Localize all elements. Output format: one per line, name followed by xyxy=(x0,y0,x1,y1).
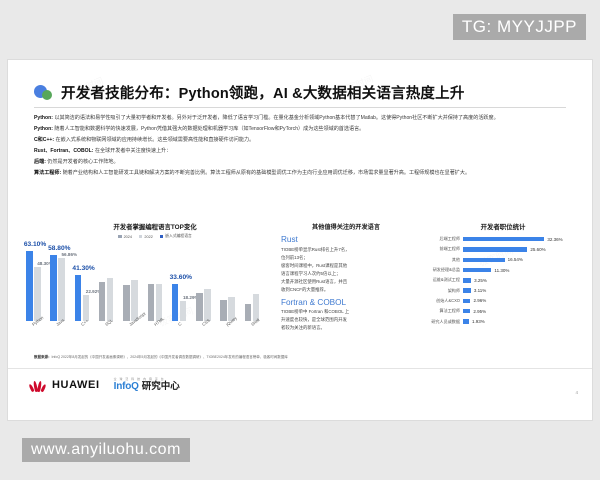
bar-category-label: 后端工程师 xyxy=(414,236,463,242)
bar-row: 研发经理&总监11.30% xyxy=(414,265,592,275)
fortran-line: 升速度也较快，是全球范围内开发 xyxy=(281,317,347,322)
legend-swatch-icon xyxy=(160,235,163,238)
infoq-main: InfoQ 研究中心 xyxy=(114,382,180,392)
legend-item: 2024 xyxy=(118,234,132,239)
bar-row: 研究人员或数据1.93% xyxy=(414,316,592,326)
chart-plot-area: 后端工程师32.36%前端工程师25.60%其他16.54%研发经理&总监11.… xyxy=(414,234,592,327)
bar xyxy=(463,268,491,272)
paragraph-label: Python: xyxy=(34,126,53,132)
footer-logos: HUAWEI 全 球 泛 科 技 内 容 平 台 InfoQ 研究中心 xyxy=(30,378,180,392)
bar-group xyxy=(245,243,266,321)
bar-value-label: 25.60% xyxy=(527,247,545,252)
bar-row: 运维&测试工程3.25% xyxy=(414,275,592,285)
panel-heading: 其他值得关注的开发语言 xyxy=(281,222,411,231)
bar-value-label: 3.25% xyxy=(471,278,487,283)
fortran-cobol-heading: Fortran & COBOL xyxy=(281,298,411,307)
bar-value-label: 32.36% xyxy=(544,237,562,242)
rust-heading: Rust xyxy=(281,235,411,244)
bar-value-label: 1.93% xyxy=(469,319,485,324)
bar-2022 xyxy=(107,278,114,321)
bar-category-label: 研究人员或数据 xyxy=(414,319,463,325)
bar-2024 xyxy=(196,293,203,321)
rust-line: TIOBE榜单显示Rust排名上升7名， xyxy=(281,247,350,252)
bar-group xyxy=(99,243,120,321)
infoq-wordmark: InfoQ xyxy=(114,382,139,392)
bar xyxy=(463,247,527,251)
paragraph-label: Rust、Fortran、COBOL: xyxy=(34,148,93,154)
legend-item: 嵌入式编程语言 xyxy=(160,234,192,239)
bar-2022 xyxy=(58,258,65,321)
legend-label: 2024 xyxy=(124,235,132,239)
bar-value-label: 2.96% xyxy=(470,298,486,303)
legend-swatch-icon xyxy=(118,235,121,238)
page-title: 开发者技能分布：Python领跑，AI &大数据相关语言热度上升 xyxy=(61,82,465,103)
bar xyxy=(463,299,470,303)
slide-title-row: 开发者技能分布：Python领跑，AI &大数据相关语言热度上升 xyxy=(34,82,572,103)
bar-category-label: 运维&测试工程 xyxy=(414,277,463,283)
rust-line: 语言课程学习人次约5倍以上； xyxy=(281,271,341,276)
languages-bar-chart: 开发者掌握编程语言TOP变化 2024 2022 嵌入式编程语言 63.10%4… xyxy=(26,222,284,348)
x-axis-label: C xyxy=(177,321,182,327)
bar-2024 xyxy=(148,284,155,321)
bar-category-label: 算法工程师 xyxy=(414,308,463,314)
huawei-flower-icon xyxy=(30,379,47,392)
rust-body: TIOBE榜单显示Rust排名上升7名， 位列前13名； 极客时间课程中，Rus… xyxy=(281,246,411,294)
source-label: 数据来源： xyxy=(34,355,52,359)
other-languages-panel: 其他值得关注的开发语言 Rust TIOBE榜单显示Rust排名上升7名， 位列… xyxy=(281,222,411,348)
bar-2024 xyxy=(75,275,82,321)
bar-group xyxy=(220,243,241,321)
bar xyxy=(463,258,505,262)
paragraph-label: 算法工程师: xyxy=(34,170,61,176)
chart-legend: 2024 2022 嵌入式编程语言 xyxy=(26,234,284,239)
paragraph-label: 后端: xyxy=(34,159,46,165)
infoq-logo: 全 球 泛 科 技 内 容 平 台 InfoQ 研究中心 xyxy=(114,378,180,392)
charts-row: 开发者掌握编程语言TOP变化 2024 2022 嵌入式编程语言 63.10%4… xyxy=(26,222,592,348)
paragraph: C和C++: 在嵌入式系统和物联网领域的应用持续增长。这些领域需要高性能和直接硬… xyxy=(34,136,568,146)
bar-value-label: 16.54% xyxy=(505,257,523,262)
bar-2024 xyxy=(123,285,130,321)
bar-2024 xyxy=(172,284,179,321)
chart-title: 开发者职位统计 xyxy=(414,222,592,231)
paragraph: Python: 随着人工智能和数据科学的快速发展，Python凭借其强大的数据处… xyxy=(34,125,568,135)
bar-value-label: 2.95% xyxy=(470,309,486,314)
bar xyxy=(463,288,471,292)
bar-value-label: 41.30% xyxy=(67,265,101,272)
page-number: 4 xyxy=(575,390,578,395)
source-note: 数据来源：InfoQ 2022年8月发起的《中国开发者画像调研》、2024年5月… xyxy=(34,355,574,360)
bar-row: 算法工程师2.95% xyxy=(414,306,592,316)
paragraph-text: 随着产业结构和人工智能研发工具链和解决方案的不断完善比例。算法工程师从原有的基础… xyxy=(61,170,470,176)
huawei-wordmark: HUAWEI xyxy=(52,379,100,391)
job-roles-bar-chart: 开发者职位统计 后端工程师32.36%前端工程师25.60%其他16.54%研发… xyxy=(414,222,592,348)
bar-group xyxy=(196,243,217,321)
bar-group xyxy=(123,243,144,321)
bar-2022 xyxy=(204,289,211,321)
rust-line: 极客时间课程中，Rust课程是其他 xyxy=(281,263,347,268)
bar xyxy=(463,309,470,313)
rust-line: 收到CNCF的大量推荐。 xyxy=(281,287,328,292)
paragraph-text: 仍然是开发者的核心工作阵地。 xyxy=(46,159,119,165)
chart-title: 开发者掌握编程语言TOP变化 xyxy=(26,222,284,231)
legend-label: 2022 xyxy=(144,235,152,239)
bar-row: 架构师3.11% xyxy=(414,285,592,295)
two-circles-bullet-icon xyxy=(34,85,52,101)
legend-swatch-icon xyxy=(139,235,142,238)
legend-label: 嵌入式编程语言 xyxy=(165,234,192,239)
footer-divider xyxy=(8,368,592,369)
fortran-cobol-body: TIOBE榜单中 Fortran 和COBOL 上 升速度也较快，是全球范围内开… xyxy=(281,308,411,332)
bar-value-label: 33.60% xyxy=(164,274,198,281)
rust-line: 大量开源社区使用Rust语言，并且 xyxy=(281,279,347,284)
fortran-line: 者较为关注的新语言。 xyxy=(281,325,325,330)
bar-value-label: 3.11% xyxy=(471,288,486,293)
chart-plot-area: 63.10%48.30%58.80%56.86%41.30%22.92%33.6… xyxy=(26,243,284,321)
paragraph: 后端: 仍然是开发者的核心工作阵地。 xyxy=(34,158,568,168)
bar-row: 创始人&CXO2.96% xyxy=(414,296,592,306)
paragraph-label: Python: xyxy=(34,115,53,121)
bar-group xyxy=(148,243,169,321)
source-text: InfoQ 2022年8月发起的《中国开发者画像调研》、2024年5月发起的《中… xyxy=(52,355,288,359)
bar-group: 33.60%18.29% xyxy=(172,243,193,321)
bar-category-label: 研发经理&总监 xyxy=(414,267,463,273)
huawei-logo: HUAWEI xyxy=(30,379,100,392)
infoq-center-label: 研究中心 xyxy=(142,382,180,392)
bar-row: 其他16.54% xyxy=(414,255,592,265)
paragraph-text: 在嵌入式系统和物联网领域的应用持续增长。这些领域需要高性能和直接硬件访问能力。 xyxy=(54,137,254,143)
bar-category-label: 架构师 xyxy=(414,288,463,294)
bar-group: 63.10%48.30% xyxy=(26,243,47,321)
slide-canvas: 极客时间 极客时间 极客时间 极客时间 开发者技能分布：Python领跑，AI … xyxy=(8,60,592,420)
bar-category-label: 创始人&CXO xyxy=(414,298,463,304)
bar xyxy=(463,237,544,241)
paragraph: Python: 以其简洁的语法和易学性吸引了大量初学者和开发者。另外对于泛开发者… xyxy=(34,114,568,124)
chart-x-axis: PythonJavaC++SQLJavaScriptHTMLCCSSjQuery… xyxy=(26,321,284,343)
bar-2024 xyxy=(50,255,57,321)
bar-row: 前端工程师25.60% xyxy=(414,244,592,254)
paragraph-text: 随着人工智能和数据科学的快速发展，Python凭借其强大的数据处理和机器学习库（… xyxy=(53,126,364,132)
bar-category-label: 前端工程师 xyxy=(414,246,463,252)
paragraph: 算法工程师: 随着产业结构和人工智能研发工具链和解决方案的不断完善比例。算法工程… xyxy=(34,169,568,179)
telegram-watermark: TG: MYYJJPP xyxy=(453,14,586,40)
fortran-line: TIOBE榜单中 Fortran 和COBOL 上 xyxy=(281,309,349,314)
title-divider xyxy=(34,107,566,108)
paragraph-text: 在全球开发者中关注度快速上升： xyxy=(93,148,171,154)
bar-2022 xyxy=(180,301,187,321)
legend-item: 2022 xyxy=(139,234,153,239)
paragraph-text: 以其简洁的语法和易学性吸引了大量初学者和开发者。另外对于泛开发者，降低了语言学习… xyxy=(53,115,499,121)
bar-2024 xyxy=(245,304,252,321)
bar-2024 xyxy=(220,300,227,321)
bar-2024 xyxy=(99,282,106,321)
bar xyxy=(463,278,471,282)
bar-category-label: 其他 xyxy=(414,257,463,263)
bar-2022 xyxy=(34,267,41,321)
paragraph: Rust、Fortran、COBOL: 在全球开发者中关注度快速上升： xyxy=(34,147,568,157)
bar-group: 58.80%56.86% xyxy=(50,243,71,321)
rust-line: 位列前13名； xyxy=(281,255,308,260)
bar-value-label: 11.30% xyxy=(491,268,509,273)
body-paragraphs: Python: 以其简洁的语法和易学性吸引了大量初学者和开发者。另外对于泛开发者… xyxy=(34,114,568,180)
url-watermark: www.anyiluohu.com xyxy=(22,438,190,462)
bar-group: 41.30%22.92% xyxy=(75,243,96,321)
paragraph-label: C和C++: xyxy=(34,137,54,143)
bar-row: 后端工程师32.36% xyxy=(414,234,592,244)
